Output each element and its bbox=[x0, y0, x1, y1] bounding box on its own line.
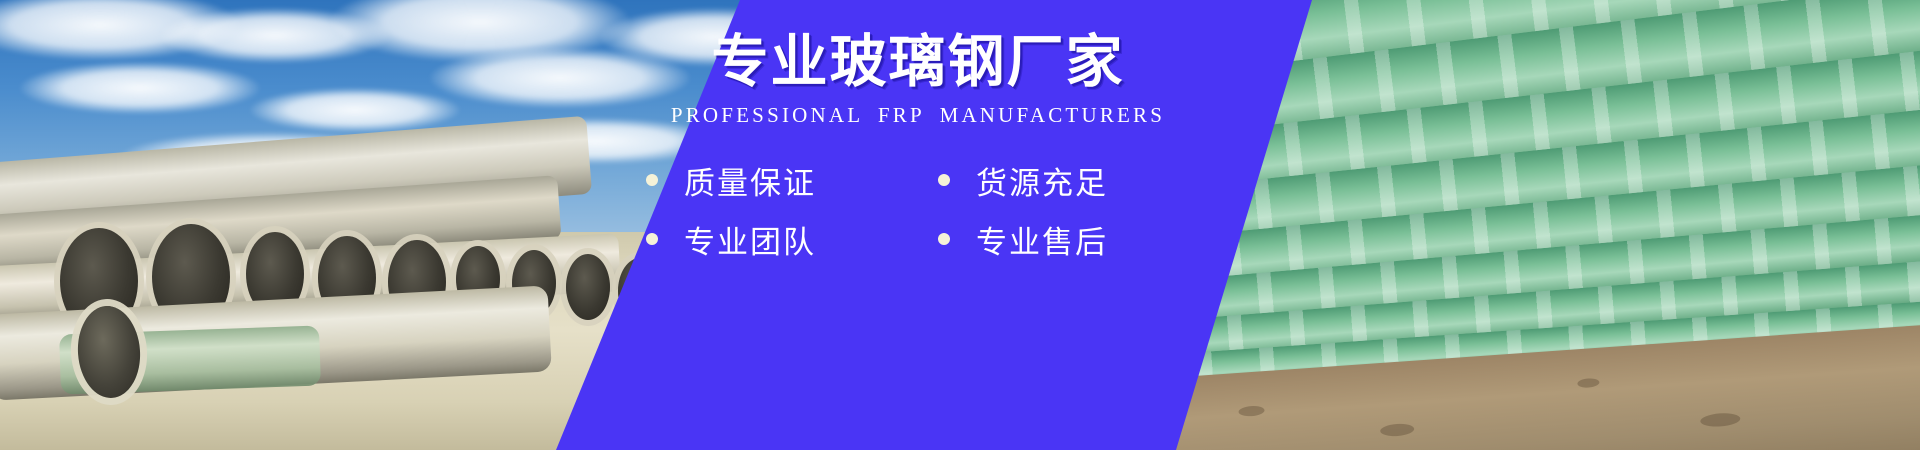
bullet-dot-icon bbox=[938, 174, 950, 186]
bullet-dot-icon bbox=[938, 233, 950, 245]
feature-item-aftersales: 专业售后 bbox=[938, 217, 1218, 262]
cloud-shape bbox=[20, 62, 260, 114]
banner-content: 专业玻璃钢厂家 PROFESSIONAL FRP MANUFACTURERS 质… bbox=[618, 14, 1218, 434]
feature-list: 质量保证 货源充足 专业团队 专业售后 bbox=[618, 158, 1218, 262]
pipe-opening bbox=[566, 254, 610, 320]
feature-label: 专业售后 bbox=[976, 217, 1108, 262]
dirt-spot bbox=[1238, 405, 1265, 417]
feature-label: 货源充足 bbox=[976, 158, 1108, 203]
feature-item-quality: 质量保证 bbox=[646, 158, 926, 203]
dirt-spot bbox=[1700, 412, 1741, 428]
dirt-spot bbox=[1577, 378, 1600, 389]
banner-subtitle: PROFESSIONAL FRP MANUFACTURERS bbox=[618, 103, 1218, 128]
feature-label: 质量保证 bbox=[684, 158, 816, 203]
feature-item-team: 专业团队 bbox=[646, 217, 926, 262]
feature-item-supply: 货源充足 bbox=[938, 158, 1218, 203]
feature-label: 专业团队 bbox=[684, 217, 816, 262]
bullet-dot-icon bbox=[646, 174, 658, 186]
cloud-shape bbox=[250, 88, 460, 132]
banner-title: 专业玻璃钢厂家 bbox=[618, 14, 1218, 94]
promo-banner: 专业玻璃钢厂家 PROFESSIONAL FRP MANUFACTURERS 质… bbox=[0, 0, 1920, 450]
dirt-spot bbox=[1380, 423, 1415, 437]
bullet-dot-icon bbox=[646, 233, 658, 245]
